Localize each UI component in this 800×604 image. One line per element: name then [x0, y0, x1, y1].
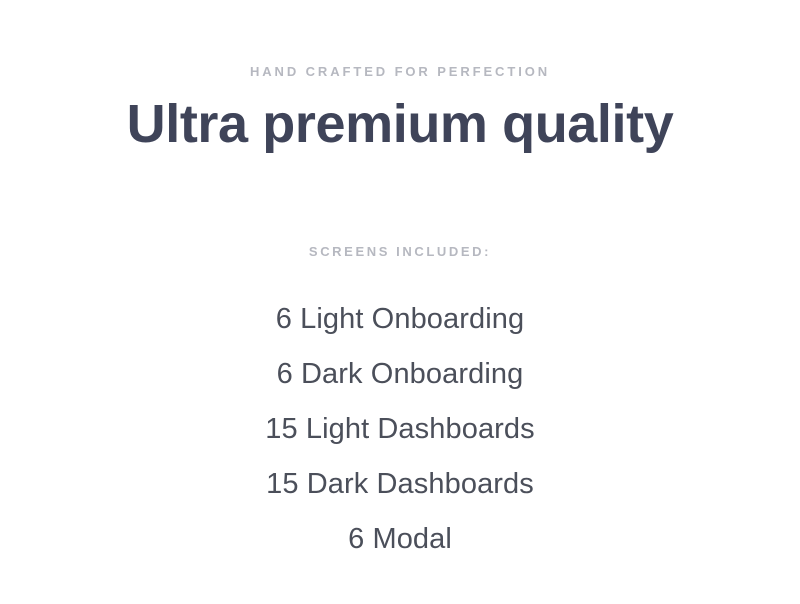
page-title: Ultra premium quality: [127, 95, 674, 153]
list-item: 6 Modal: [0, 512, 800, 567]
promo-slide: Hand crafted for perfection Ultra premiu…: [0, 0, 800, 604]
list-item: 15 Light Dashboards: [0, 402, 800, 457]
eyebrow-text: Hand crafted for perfection: [250, 64, 550, 80]
list-item: 6 Dark Onboarding: [0, 347, 800, 402]
screens-included-label: Screens included:: [309, 244, 491, 260]
screens-list: 6 Light Onboarding 6 Dark Onboarding 15 …: [0, 292, 800, 567]
list-item: 6 Light Onboarding: [0, 292, 800, 347]
list-item: 15 Dark Dashboards: [0, 457, 800, 512]
